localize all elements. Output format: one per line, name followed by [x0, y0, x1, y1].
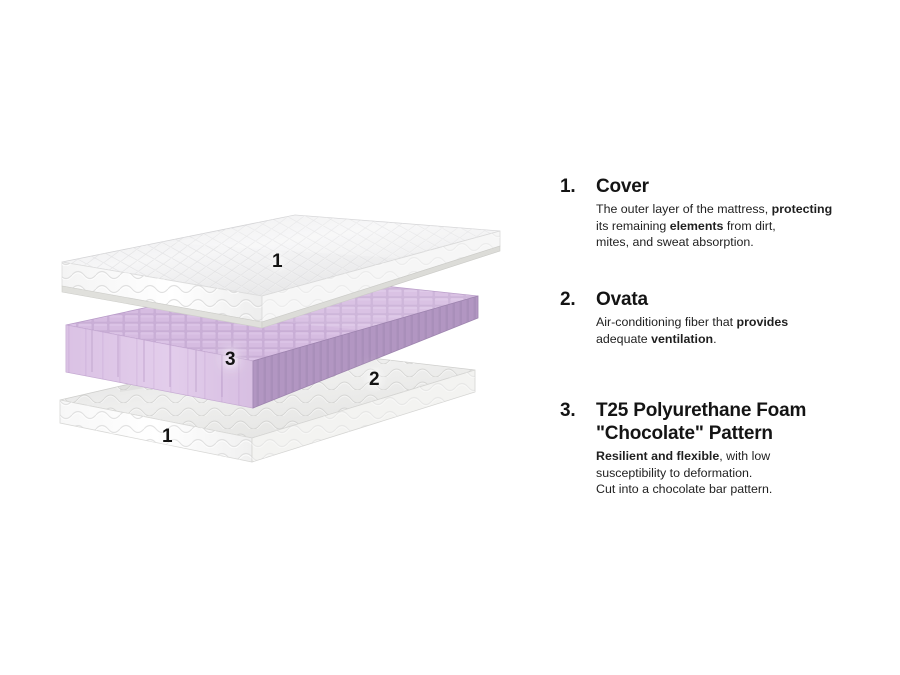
legend-desc-cover: The outer layer of the mattress, protect… — [596, 201, 890, 251]
legend-index-3: 3. — [560, 400, 596, 422]
legend-title-line: Cover — [596, 176, 890, 198]
legend-title-line: Ovata — [596, 289, 890, 311]
legend-index-2: 2. — [560, 289, 596, 311]
desc-line: Resilient and flexible, with low — [596, 448, 890, 465]
legend-title-line: "Chocolate" Pattern — [596, 423, 890, 445]
legend-title-cover: Cover — [596, 176, 890, 198]
desc-line: Air-conditioning fiber that provides — [596, 314, 890, 331]
desc-line: Cut into a chocolate bar pattern. — [596, 481, 890, 498]
mattress-exploded-diagram: 1 3 2 1 — [0, 0, 540, 675]
legend-desc-ovata: Air-conditioning fiber that provides ade… — [596, 314, 890, 347]
desc-line: The outer layer of the mattress, protect… — [596, 201, 890, 218]
desc-line: adequate ventilation. — [596, 331, 890, 348]
legend-title-foam: T25 Polyurethane Foam "Chocolate" Patter… — [596, 400, 890, 445]
legend-item-foam: 3. T25 Polyurethane Foam "Chocolate" Pat… — [560, 400, 890, 497]
legend-index-1: 1. — [560, 176, 596, 198]
legend-title-line: T25 Polyurethane Foam — [596, 400, 890, 422]
desc-line: susceptibility to deformation. — [596, 465, 890, 482]
desc-line: its remaining elements from dirt, — [596, 218, 890, 235]
mattress-illustration — [0, 0, 540, 675]
legend-title-ovata: Ovata — [596, 289, 890, 311]
legend-item-ovata: 2. Ovata Air-conditioning fiber that pro… — [560, 289, 890, 347]
legend-desc-foam: Resilient and flexible, with low suscept… — [596, 448, 890, 498]
diagram-page: 1 3 2 1 1. Cover The outer layer of the … — [0, 0, 900, 675]
desc-line: mites, and sweat absorption. — [596, 234, 890, 251]
layer-legend: 1. Cover The outer layer of the mattress… — [560, 176, 890, 498]
legend-item-cover: 1. Cover The outer layer of the mattress… — [560, 176, 890, 251]
